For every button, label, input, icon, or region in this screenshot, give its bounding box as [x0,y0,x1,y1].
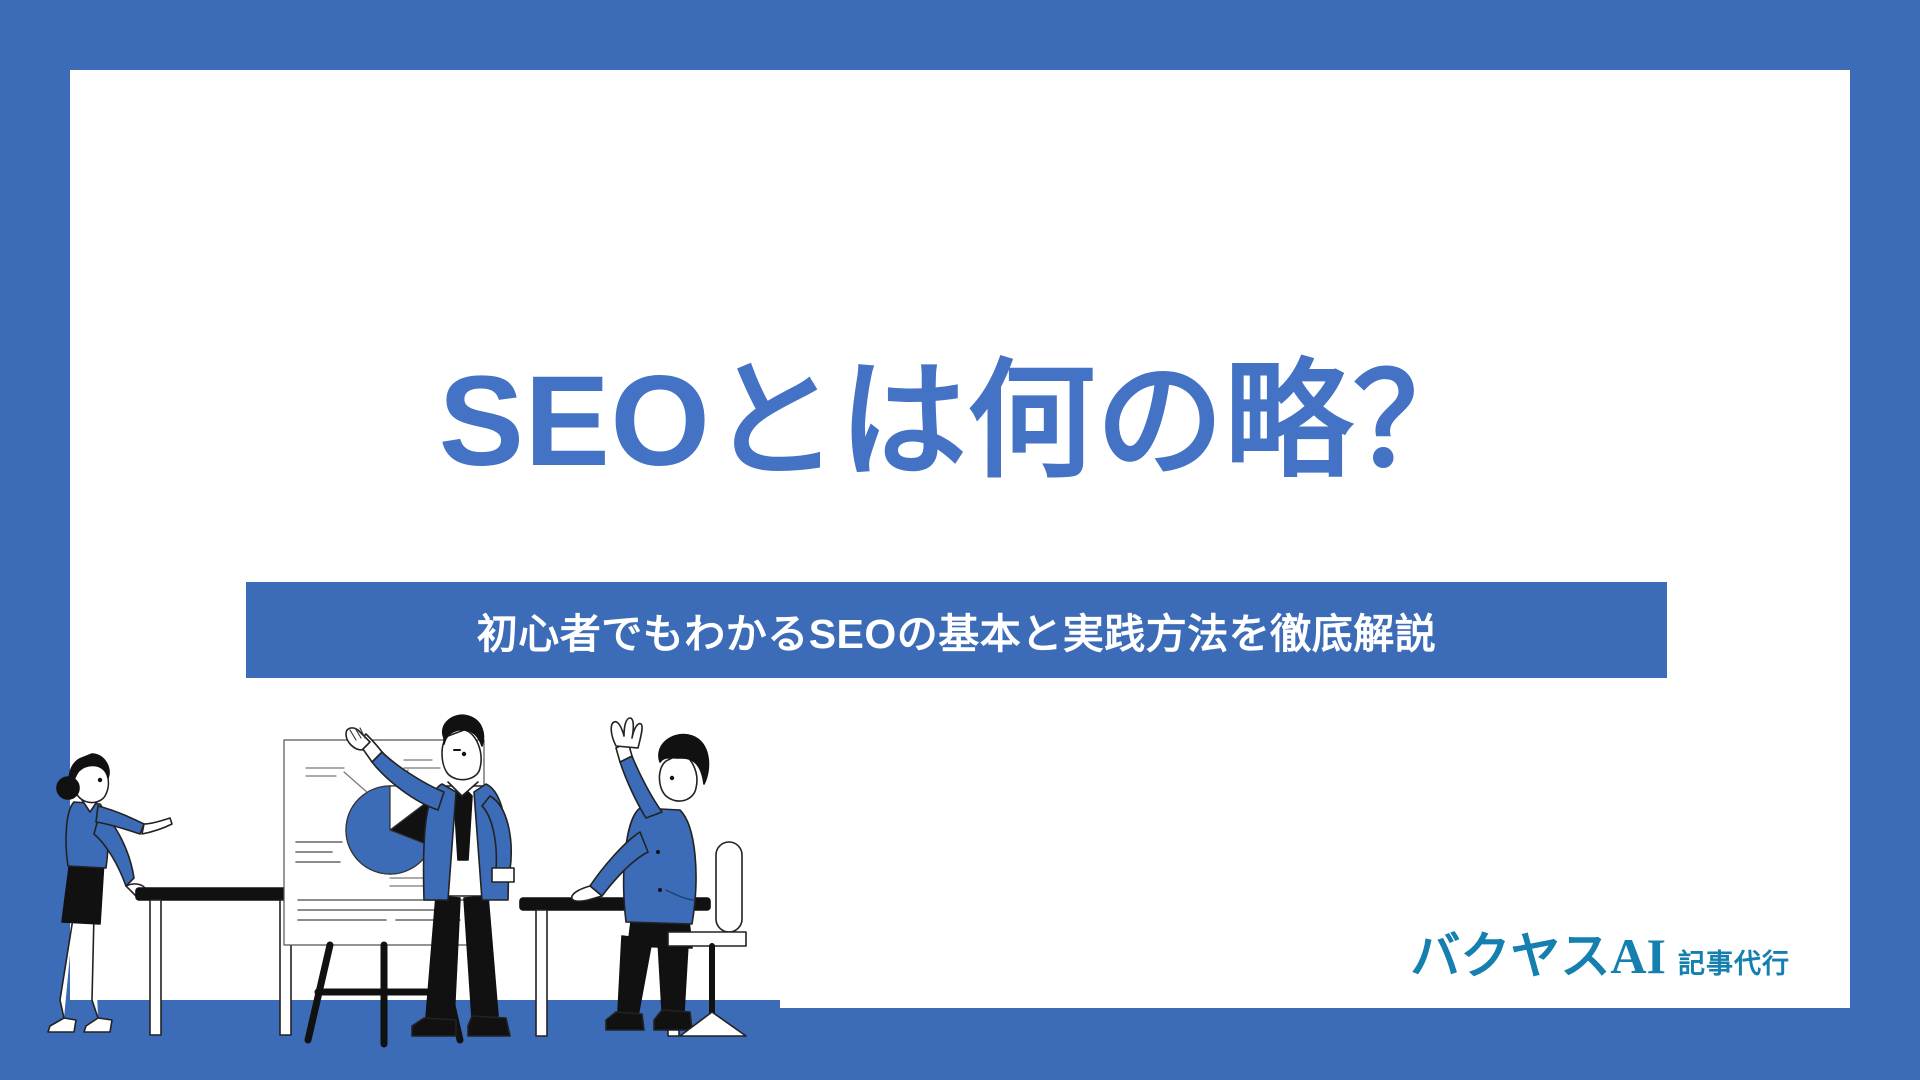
figure-person-seated [572,718,709,1030]
brand-logo-tagline: 記事代行 [1678,942,1790,981]
brand-logo-name: バクヤスAI [1410,916,1666,988]
subtitle-text: 初心者でもわかるSEOの基本と実践方法を徹底解説 [477,600,1437,660]
business-illustration-svg [40,700,780,1080]
hair-bun [57,777,79,799]
slide-canvas: SEOとは何の略？ 初心者でもわかるSEOの基本と実践方法を徹底解説 バクヤスA… [0,0,1920,1080]
page-title: SEOとは何の略？ [0,355,1920,489]
brand-logo: バクヤスAI 記事代行 [1410,916,1790,988]
subtitle-band: 初心者でもわかるSEOの基本と実践方法を徹底解説 [246,582,1667,678]
illustration-container [40,700,780,1080]
